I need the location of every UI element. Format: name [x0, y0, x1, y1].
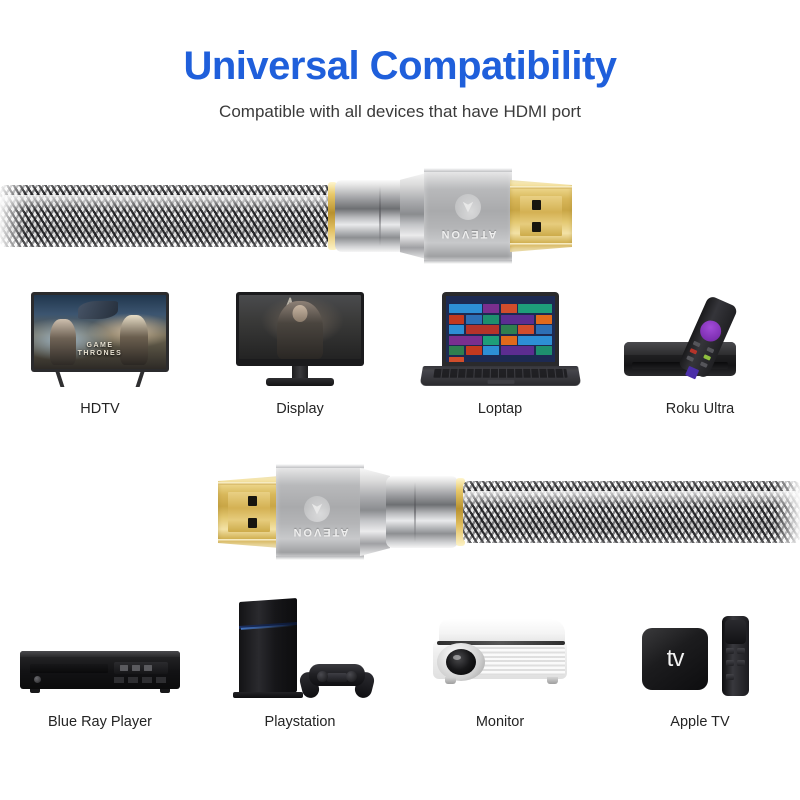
monitor-screen — [239, 295, 361, 359]
head-top-edge — [424, 168, 512, 172]
plug-pin-upper-2 — [248, 496, 257, 506]
windows-start-tiles — [449, 304, 552, 358]
windows-tile — [483, 304, 499, 313]
hdtv-art: GAME THRONES — [25, 292, 175, 392]
hdmi-cable-top: ATEVON — [0, 160, 580, 280]
infographic-page: Universal Compatibility Compatible with … — [0, 0, 800, 800]
windows-tile — [518, 304, 551, 313]
plug-pin-upper — [532, 200, 541, 210]
siri-remote-touchpad — [725, 620, 746, 644]
windows-tile — [501, 346, 534, 355]
device-cell-bluray[interactable]: Blue Ray Player — [0, 600, 200, 730]
connector-head-2: ATEVON — [276, 464, 364, 560]
apple-tv-icon: tv — [630, 610, 770, 705]
windows-tile — [501, 304, 517, 313]
hdtv-icon: GAME THRONES — [25, 292, 175, 392]
brand-label: ATEVON — [439, 228, 496, 240]
ps4-stick-right — [346, 671, 357, 682]
playstation-icon — [225, 600, 375, 705]
plug-pin-lower — [532, 222, 541, 232]
apple-tv-logo-text: tv — [667, 645, 684, 673]
ps4-stand — [233, 692, 303, 698]
laptop-lid — [442, 292, 559, 366]
bluray-disc-tray — [30, 664, 108, 673]
cable-fade-right — [774, 481, 800, 543]
bluray-top-panel — [20, 651, 180, 657]
braided-cable-sleeve — [0, 185, 350, 247]
windows-tile — [518, 325, 534, 334]
siri-remote-play-button — [726, 660, 734, 666]
windows-tile — [518, 336, 551, 345]
roku-icon — [618, 292, 783, 392]
bluray-foot-right — [160, 689, 170, 693]
chrome-barrel-2 — [386, 476, 458, 548]
windows-tile — [466, 325, 499, 334]
monitor-icon — [230, 292, 370, 392]
laptop-screen — [446, 296, 555, 362]
hdmi-cable-middle: ATEVON — [210, 458, 800, 573]
plug-contact-face — [520, 196, 562, 236]
plug-pin-lower-2 — [248, 518, 257, 528]
projector-lens-glint — [453, 655, 461, 660]
device-cell-laptop[interactable]: Loptap — [400, 292, 600, 417]
windows-tile — [536, 315, 552, 324]
roku-button-6 — [699, 361, 707, 368]
device-row-1: GAME THRONES HDTV — [0, 292, 800, 417]
hdtv-leg-right — [136, 372, 145, 387]
plug-contact-face-2 — [228, 492, 270, 532]
head-top-edge-2 — [276, 464, 364, 468]
siri-remote-tv-button — [737, 648, 745, 654]
roku-button-2 — [706, 347, 714, 354]
playstation-art — [225, 600, 375, 705]
head-bottom-edge-2 — [276, 556, 364, 560]
projector-foot-left — [445, 677, 456, 684]
laptop-art — [423, 292, 578, 392]
atevon-logo-icon — [455, 194, 481, 220]
windows-tile — [501, 336, 517, 345]
windows-tile — [449, 357, 465, 363]
roku-button-1 — [692, 341, 700, 348]
projector-art — [423, 600, 578, 705]
device-label-apple-tv: Apple TV — [670, 714, 729, 730]
cable-gloss — [0, 195, 350, 211]
barrel-seam — [379, 186, 381, 247]
windows-tile — [483, 336, 499, 345]
display-art — [230, 292, 370, 392]
device-row-2: Blue Ray Player — [0, 600, 800, 730]
laptop-icon — [423, 292, 578, 392]
bluray-display-seg-2 — [132, 665, 140, 671]
monitor-bezel — [236, 292, 364, 366]
windows-tile — [501, 325, 517, 334]
bluray-player-icon — [20, 635, 180, 705]
roku-button-5 — [686, 355, 694, 362]
windows-tile — [536, 346, 552, 355]
windows-tile — [466, 315, 482, 324]
cable-fade-left — [0, 185, 26, 247]
page-subtitle: Compatible with all devices that have HD… — [0, 102, 800, 122]
device-cell-roku[interactable]: Roku Ultra — [600, 292, 800, 417]
bluray-buttons — [114, 677, 168, 683]
got-title-text: GAME THRONES — [34, 342, 166, 360]
projector-lens-ring — [437, 643, 485, 681]
device-label-bluray: Blue Ray Player — [48, 714, 152, 730]
projector-foot-right — [547, 677, 558, 684]
hdtv-bezel: GAME THRONES — [31, 292, 169, 372]
device-label-laptop: Loptap — [478, 401, 522, 417]
braided-cable-sleeve-2 — [463, 481, 800, 543]
got-line-2: THRONES — [78, 350, 123, 357]
hdmi-plug-gold-2 — [218, 476, 280, 548]
atevon-logo-icon-2 — [304, 496, 330, 522]
bluray-display-seg-1 — [120, 665, 128, 671]
laptop-trackpad — [486, 380, 513, 384]
siri-remote-menu-button — [726, 648, 734, 654]
plug-bottom-lip-2 — [218, 539, 280, 542]
projector-icon — [423, 613, 578, 705]
roku-button-4 — [703, 354, 711, 361]
ps4-controller — [301, 656, 373, 698]
plug-top-lip-2 — [218, 482, 280, 485]
siri-remote-mic-button — [737, 660, 745, 666]
projector-lens — [446, 649, 476, 675]
ps4-stick-left — [317, 671, 328, 682]
laptop-base — [419, 366, 581, 386]
device-label-roku: Roku Ultra — [666, 401, 735, 417]
chrome-barrel — [335, 180, 407, 252]
siri-remote — [722, 616, 749, 696]
device-cell-apple-tv[interactable]: tv Apple TV — [600, 600, 800, 730]
page-title: Universal Compatibility — [0, 44, 800, 88]
windows-tile — [466, 346, 482, 355]
laptop-keyboard — [433, 369, 567, 378]
connector-head: ATEVON — [424, 168, 512, 264]
brand-label-2: ATEVON — [291, 526, 348, 538]
bluray-display-seg-3 — [144, 665, 152, 671]
cable-gloss-2 — [463, 491, 800, 507]
barrel-seam-2 — [414, 482, 416, 543]
device-cell-hdtv[interactable]: GAME THRONES HDTV — [0, 292, 200, 417]
windows-tile — [449, 315, 465, 324]
roku-remote-tip — [685, 366, 699, 380]
got-dragon — [78, 301, 118, 319]
device-label-playstation: Playstation — [265, 714, 336, 730]
roku-button-3 — [689, 348, 697, 355]
got-line-1: GAME — [87, 342, 114, 349]
apple-tv-box: tv — [642, 628, 708, 690]
ps4-touchpad — [327, 673, 347, 682]
roku-dpad — [696, 317, 724, 345]
device-cell-display[interactable]: Display — [200, 292, 400, 417]
bluray-power-knob — [34, 676, 41, 683]
witcher-figure — [277, 301, 323, 359]
plug-bottom-lip — [510, 243, 572, 246]
device-label-hdtv: HDTV — [80, 401, 119, 417]
bluray-chassis — [20, 651, 180, 689]
device-label-display: Display — [276, 401, 324, 417]
windows-tile — [449, 346, 465, 355]
windows-tile — [536, 325, 552, 334]
bluray-foot-left — [30, 689, 40, 693]
monitor-base — [266, 378, 334, 386]
bluray-display — [114, 662, 168, 674]
apple-tv-art: tv — [630, 600, 770, 705]
device-cell-playstation[interactable]: Playstation — [200, 600, 400, 730]
windows-tile — [501, 315, 534, 324]
ps4-console — [239, 598, 297, 696]
windows-tile — [449, 325, 465, 334]
roku-art — [618, 292, 783, 392]
device-cell-projector[interactable]: Monitor — [400, 600, 600, 730]
hdmi-plug-gold — [510, 180, 572, 252]
bluray-art — [20, 600, 180, 705]
hdtv-screen: GAME THRONES — [34, 295, 166, 369]
header: Universal Compatibility Compatible with … — [0, 44, 800, 122]
windows-tile — [483, 346, 499, 355]
head-bottom-edge — [424, 260, 512, 264]
windows-tile — [449, 336, 482, 345]
windows-tile — [449, 304, 482, 313]
witcher-head — [293, 305, 308, 322]
hdtv-leg-left — [56, 372, 65, 387]
plug-top-lip — [510, 186, 572, 189]
device-label-projector: Monitor — [476, 714, 524, 730]
siri-remote-volume-button — [726, 674, 734, 680]
hdtv-stand — [52, 372, 148, 388]
windows-tile — [483, 315, 499, 324]
